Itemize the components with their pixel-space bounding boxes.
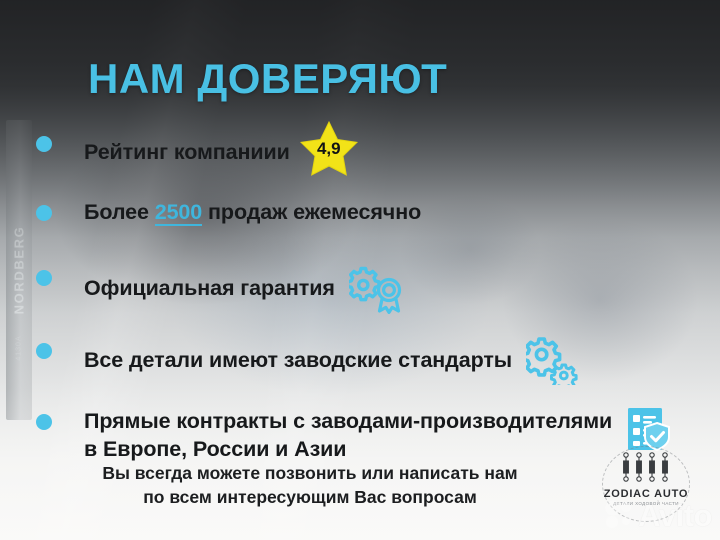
benefit-text: Рейтинг компаниии	[84, 139, 290, 167]
promo-slide: NORDBERG 4130A НАМ ДОВЕРЯЮТ Рейтинг комп…	[0, 0, 720, 540]
list-item: Более 2500 продаж ежемесячно	[36, 199, 696, 241]
list-item: Прямые контракты с заводами-производител…	[36, 408, 696, 463]
footer-note: Вы всегда можете позвонить или написать …	[60, 462, 560, 509]
benefit-text: Прямые контракты с заводами-производител…	[84, 408, 612, 463]
shock-absorbers-icon	[598, 444, 694, 487]
bullet-dot-icon	[36, 205, 52, 221]
list-item: Официальная гарантия	[36, 264, 696, 314]
benefit-highlight-number: 2500	[155, 200, 202, 226]
benefit-text-line2: в Европе, России и Азии	[84, 437, 346, 461]
gear-award-icon	[349, 264, 407, 314]
benefit-text: Официальная гарантия	[84, 275, 335, 303]
benefits-list: Рейтинг компаниии 4,9 Более 2500 продаж …	[36, 130, 696, 463]
footer-line-2: по всем интересующим Вас вопросам	[143, 487, 477, 507]
benefit-text: Более 2500 продаж ежемесячно	[84, 199, 421, 227]
rating-star-badge-icon: 4,9	[300, 120, 358, 176]
benefit-text-before: Более	[84, 200, 155, 224]
bullet-dot-icon	[36, 136, 52, 152]
benefit-text-line1: Прямые контракты с заводами-производител…	[84, 409, 612, 433]
bullet-dot-icon	[36, 270, 52, 286]
avito-watermark: Avito	[604, 498, 712, 534]
slide-content: НАМ ДОВЕРЯЮТ Рейтинг компаниии 4,9	[0, 0, 720, 540]
two-gears-icon	[526, 337, 578, 385]
benefit-text: Все детали имеют заводские стандарты	[84, 347, 512, 375]
footer-line-1: Вы всегда можете позвонить или написать …	[102, 463, 517, 483]
avito-wordmark: Avito	[638, 498, 712, 534]
bullet-dot-icon	[36, 414, 52, 430]
list-item: Все детали имеют заводские стандарты	[36, 337, 696, 385]
avito-logo-icon	[604, 499, 634, 534]
benefit-text-after: продаж ежемесячно	[202, 200, 421, 224]
rating-value: 4,9	[300, 139, 358, 159]
bullet-dot-icon	[36, 343, 52, 359]
page-title: НАМ ДОВЕРЯЮТ	[88, 55, 447, 103]
list-item: Рейтинг компаниии 4,9	[36, 130, 696, 176]
